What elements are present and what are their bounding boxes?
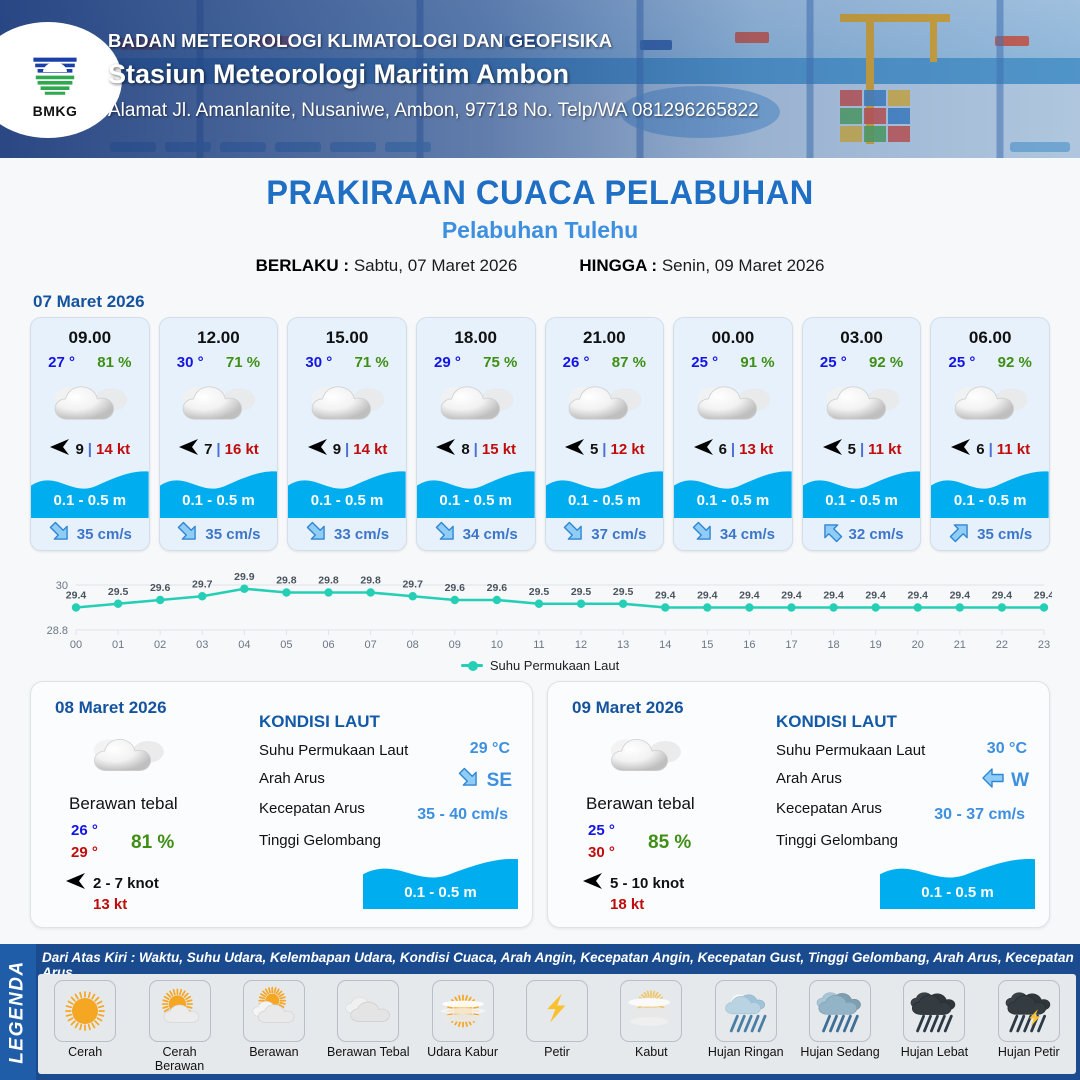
wind-direction-arrow bbox=[822, 438, 844, 461]
legend-icon-box bbox=[54, 980, 116, 1042]
wind-direction-icon bbox=[435, 438, 457, 456]
card-current-speed: 35 cm/s bbox=[977, 526, 1032, 543]
legend-item: Hujan Ringan bbox=[703, 980, 789, 1059]
legend-icon-box bbox=[337, 980, 399, 1042]
card-temp-humidity: 27 ° 81 % bbox=[31, 354, 149, 371]
card-weather-icon bbox=[288, 375, 406, 431]
card-time: 18.00 bbox=[417, 318, 535, 348]
daily-current-direction: SE bbox=[457, 766, 512, 795]
svg-text:23: 23 bbox=[1038, 639, 1050, 651]
svg-text:22: 22 bbox=[996, 639, 1008, 651]
current-direction-icon bbox=[452, 761, 486, 795]
card-weather-icon bbox=[803, 375, 921, 431]
agency-name: BADAN METEOROLOGI KLIMATOLOGI DAN GEOFIS… bbox=[108, 30, 759, 52]
card-humidity: 81 % bbox=[97, 354, 131, 371]
wave-graphic bbox=[288, 464, 406, 518]
current-direction-icon bbox=[429, 515, 463, 549]
card-wave-height: 0.1 - 0.5 m bbox=[674, 492, 792, 509]
card-current-row: 33 cm/s bbox=[288, 518, 406, 550]
svg-text:02: 02 bbox=[154, 639, 166, 651]
legend-item-label: Cerah bbox=[42, 1045, 128, 1059]
card-wind-degree: 9 bbox=[333, 441, 341, 458]
daily-humidity: 81 % bbox=[131, 832, 174, 854]
legend-item-label: Kabut bbox=[608, 1045, 694, 1059]
wind-direction-icon bbox=[178, 438, 200, 456]
card-current-row: 32 cm/s bbox=[803, 518, 921, 550]
label-current-direction: Arah Arus bbox=[776, 770, 842, 787]
hourly-card[interactable]: 09.00 27 ° 81 % 9 | 14 kt 0.1 - 0.5 m bbox=[30, 317, 150, 551]
hourly-forecast-list: 09.00 27 ° 81 % 9 | 14 kt 0.1 - 0.5 m bbox=[0, 317, 1080, 551]
legend-item-label: Hujan Lebat bbox=[891, 1045, 977, 1059]
daily-wave-height: 0.1 - 0.5 m bbox=[880, 884, 1035, 901]
wind-direction-arrow bbox=[693, 438, 715, 461]
label-sst: Suhu Permukaan Laut bbox=[776, 742, 925, 759]
legend-item-label: Hujan Petir bbox=[986, 1045, 1072, 1059]
svg-text:29.6: 29.6 bbox=[487, 582, 508, 594]
cloud-icon bbox=[563, 377, 645, 429]
card-wave-height: 0.1 - 0.5 m bbox=[417, 492, 535, 509]
svg-text:29.5: 29.5 bbox=[571, 586, 592, 598]
svg-text:29.7: 29.7 bbox=[192, 578, 213, 590]
fog-icon bbox=[625, 985, 677, 1037]
moderate-rain-icon bbox=[814, 985, 866, 1037]
svg-text:29.4: 29.4 bbox=[739, 590, 760, 602]
wind-direction-arrow bbox=[49, 438, 71, 461]
svg-text:29.6: 29.6 bbox=[445, 582, 466, 594]
svg-text:00: 00 bbox=[70, 639, 82, 651]
daily-wave-area: 0.1 - 0.5 m bbox=[363, 851, 518, 909]
card-wind-row: 9 | 14 kt bbox=[288, 436, 406, 462]
card-separator: | bbox=[345, 441, 349, 458]
wind-direction-icon bbox=[49, 438, 71, 456]
legend-item: Berawan bbox=[231, 980, 317, 1059]
daily-temp-max: 30 ° bbox=[588, 844, 615, 861]
header-text-block: BADAN METEOROLOGI KLIMATOLOGI DAN GEOFIS… bbox=[108, 30, 759, 122]
sea-condition-title: KONDISI LAUT bbox=[259, 712, 380, 732]
card-humidity: 87 % bbox=[612, 354, 646, 371]
card-temp-humidity: 25 ° 92 % bbox=[803, 354, 921, 371]
card-time: 21.00 bbox=[546, 318, 664, 348]
legend-icon-box bbox=[243, 980, 305, 1042]
svg-text:06: 06 bbox=[322, 639, 334, 651]
card-wind-degree: 7 bbox=[204, 441, 212, 458]
svg-text:18: 18 bbox=[827, 639, 839, 651]
hourly-card[interactable]: 00.00 25 ° 91 % 6 | 13 kt 0.1 - 0.5 m bbox=[673, 317, 793, 551]
card-wave-area: 0.1 - 0.5 m bbox=[160, 464, 278, 518]
wind-direction-icon bbox=[950, 438, 972, 456]
station-address: Alamat Jl. Amanlanite, Nusaniwe, Ambon, … bbox=[108, 100, 759, 122]
legend-section: LEGENDA Dari Atas Kiri : Waktu, Suhu Uda… bbox=[0, 944, 1080, 1080]
card-temp-humidity: 25 ° 92 % bbox=[931, 354, 1049, 371]
legend-item: Udara Kabur bbox=[420, 980, 506, 1059]
wind-direction-icon bbox=[822, 438, 844, 456]
card-current-row: 34 cm/s bbox=[417, 518, 535, 550]
svg-text:16: 16 bbox=[743, 639, 755, 651]
legend-item-label: Udara Kabur bbox=[420, 1045, 506, 1059]
wave-graphic bbox=[931, 464, 1049, 518]
svg-text:29.4: 29.4 bbox=[865, 590, 886, 602]
daily-date: 08 Maret 2026 bbox=[55, 698, 167, 718]
card-gust: 11 kt bbox=[868, 441, 901, 458]
daily-current-dir-text: W bbox=[1011, 770, 1029, 792]
daily-wind-speed: 5 - 10 knot bbox=[610, 875, 684, 892]
current-direction-icon bbox=[686, 515, 720, 549]
card-humidity: 71 % bbox=[226, 354, 260, 371]
card-wind-row: 5 | 11 kt bbox=[803, 436, 921, 462]
daily-weather-icon bbox=[606, 730, 684, 785]
legend-item: Kabut bbox=[608, 980, 694, 1059]
svg-text:10: 10 bbox=[491, 639, 503, 651]
label-current-direction: Arah Arus bbox=[259, 770, 325, 787]
card-wave-height: 0.1 - 0.5 m bbox=[803, 492, 921, 509]
card-time: 06.00 bbox=[931, 318, 1049, 348]
cloud-icon bbox=[49, 377, 131, 429]
current-arrow-wrap bbox=[434, 520, 458, 549]
chart-legend: Suhu Permukaan Laut bbox=[0, 658, 1080, 673]
card-current-speed: 35 cm/s bbox=[205, 526, 260, 543]
card-gust: 12 kt bbox=[610, 441, 644, 458]
card-weather-icon bbox=[674, 375, 792, 431]
card-temp-humidity: 30 ° 71 % bbox=[160, 354, 278, 371]
legend-item: Hujan Sedang bbox=[797, 980, 883, 1059]
daily-temp-min: 26 ° bbox=[71, 822, 98, 839]
svg-text:29.4: 29.4 bbox=[1034, 590, 1052, 602]
card-weather-icon bbox=[931, 375, 1049, 431]
cloud-sun-icon bbox=[248, 985, 300, 1037]
card-wave-area: 0.1 - 0.5 m bbox=[288, 464, 406, 518]
daily-forecast-panels: 08 Maret 2026 Berawan tebal 26 ° 29 ° 81… bbox=[0, 681, 1080, 928]
legend-icon-box bbox=[620, 980, 682, 1042]
sst-chart-svg: 3028.829.40029.50129.60229.70329.90429.8… bbox=[28, 561, 1052, 656]
daily-temp-min: 25 ° bbox=[588, 822, 615, 839]
daily-condition: Berawan tebal bbox=[69, 794, 178, 814]
svg-text:29.4: 29.4 bbox=[950, 590, 971, 602]
wind-direction-icon bbox=[65, 872, 87, 890]
cloud-icon bbox=[435, 377, 517, 429]
wind-direction-arrow bbox=[582, 872, 604, 895]
daily-wave-area: 0.1 - 0.5 m bbox=[880, 851, 1035, 909]
svg-text:29.4: 29.4 bbox=[823, 590, 844, 602]
daily-current-speed: 35 - 40 cm/s bbox=[417, 806, 508, 824]
card-current-speed: 32 cm/s bbox=[849, 526, 904, 543]
current-arrow-wrap bbox=[948, 520, 972, 549]
card-wind-row: 8 | 15 kt bbox=[417, 436, 535, 462]
wave-graphic bbox=[546, 464, 664, 518]
svg-text:09: 09 bbox=[449, 639, 461, 651]
card-gust: 14 kt bbox=[353, 441, 387, 458]
card-weather-icon bbox=[31, 375, 149, 431]
svg-text:20: 20 bbox=[912, 639, 924, 651]
svg-text:29.5: 29.5 bbox=[613, 586, 634, 598]
svg-text:29.4: 29.4 bbox=[908, 590, 929, 602]
wave-graphic bbox=[417, 464, 535, 518]
svg-text:04: 04 bbox=[238, 639, 250, 651]
card-time: 09.00 bbox=[31, 318, 149, 348]
wind-direction-icon bbox=[582, 872, 604, 890]
wind-direction-arrow bbox=[65, 872, 87, 895]
current-direction-icon bbox=[815, 515, 849, 549]
wind-direction-arrow bbox=[564, 438, 586, 461]
card-wind-degree: 9 bbox=[75, 441, 83, 458]
daily-current-dir-text: SE bbox=[487, 770, 512, 792]
current-direction-icon bbox=[943, 515, 977, 549]
page-header: BMKG BADAN METEOROLOGI KLIMATOLOGI DAN G… bbox=[0, 0, 1080, 158]
current-arrow-wrap bbox=[820, 520, 844, 549]
wave-graphic bbox=[674, 464, 792, 518]
card-current-speed: 33 cm/s bbox=[334, 526, 389, 543]
lightning-icon bbox=[531, 985, 583, 1037]
card-temperature: 30 ° bbox=[177, 354, 204, 371]
haze-icon bbox=[437, 985, 489, 1037]
hingga-group: HINGGA : Senin, 09 Maret 2026 bbox=[579, 256, 824, 276]
daily-panel[interactable]: 08 Maret 2026 Berawan tebal 26 ° 29 ° 81… bbox=[30, 681, 533, 928]
card-wave-height: 0.1 - 0.5 m bbox=[31, 492, 149, 509]
card-wind-row: 6 | 13 kt bbox=[674, 436, 792, 462]
card-wind-row: 6 | 11 kt bbox=[931, 436, 1049, 462]
card-wind-degree: 8 bbox=[461, 441, 469, 458]
wind-direction-icon bbox=[307, 438, 329, 456]
daily-sst: 30 °C bbox=[987, 740, 1027, 758]
card-weather-icon bbox=[417, 375, 535, 431]
daily-current-direction: W bbox=[981, 766, 1029, 795]
legend-icon-box bbox=[809, 980, 871, 1042]
card-time: 15.00 bbox=[288, 318, 406, 348]
svg-text:08: 08 bbox=[407, 639, 419, 651]
current-direction-icon bbox=[171, 515, 205, 549]
wind-direction-icon bbox=[693, 438, 715, 456]
current-arrow-wrap bbox=[562, 520, 586, 549]
card-temp-humidity: 25 ° 91 % bbox=[674, 354, 792, 371]
hourly-date-label: 07 Maret 2026 bbox=[33, 292, 1080, 312]
current-direction-icon bbox=[981, 766, 1005, 790]
daily-panel[interactable]: 09 Maret 2026 Berawan tebal 25 ° 30 ° 85… bbox=[547, 681, 1050, 928]
svg-text:29.4: 29.4 bbox=[992, 590, 1013, 602]
cloud-icon bbox=[89, 730, 167, 780]
card-wave-area: 0.1 - 0.5 m bbox=[674, 464, 792, 518]
svg-text:29.9: 29.9 bbox=[234, 571, 255, 583]
card-temperature: 25 ° bbox=[691, 354, 718, 371]
hourly-card[interactable]: 21.00 26 ° 87 % 5 | 12 kt 0.1 - 0.5 m bbox=[545, 317, 665, 551]
card-wave-height: 0.1 - 0.5 m bbox=[546, 492, 664, 509]
legend-item: Berawan Tebal bbox=[325, 980, 411, 1059]
wind-direction-arrow bbox=[307, 438, 329, 461]
wave-graphic bbox=[803, 464, 921, 518]
card-separator: | bbox=[88, 441, 92, 458]
svg-text:19: 19 bbox=[870, 639, 882, 651]
hourly-card[interactable]: 03.00 25 ° 92 % 5 | 11 kt 0.1 - 0.5 m bbox=[802, 317, 922, 551]
svg-text:07: 07 bbox=[364, 639, 376, 651]
daily-wind-row: 2 - 7 knot bbox=[65, 872, 159, 895]
card-wave-area: 0.1 - 0.5 m bbox=[931, 464, 1049, 518]
card-wave-height: 0.1 - 0.5 m bbox=[931, 492, 1049, 509]
svg-text:29.8: 29.8 bbox=[360, 575, 381, 587]
validity-row: BERLAKU : Sabtu, 07 Maret 2026 HINGGA : … bbox=[0, 256, 1080, 276]
wave-graphic bbox=[31, 464, 149, 518]
svg-text:29.5: 29.5 bbox=[529, 586, 550, 598]
daily-wave-height: 0.1 - 0.5 m bbox=[363, 884, 518, 901]
legend-icon-box bbox=[998, 980, 1060, 1042]
card-temperature: 25 ° bbox=[949, 354, 976, 371]
label-current-speed: Kecepatan Arus bbox=[776, 800, 882, 817]
card-wind-degree: 6 bbox=[976, 441, 984, 458]
card-gust: 16 kt bbox=[225, 441, 259, 458]
thunderstorm-icon bbox=[1003, 985, 1055, 1037]
card-humidity: 71 % bbox=[355, 354, 389, 371]
daily-gust: 13 kt bbox=[93, 896, 127, 913]
card-temperature: 29 ° bbox=[434, 354, 461, 371]
wind-direction-icon bbox=[564, 438, 586, 456]
svg-text:01: 01 bbox=[112, 639, 124, 651]
card-humidity: 92 % bbox=[998, 354, 1032, 371]
hourly-card[interactable]: 12.00 30 ° 71 % 7 | 16 kt 0.1 - 0.5 m bbox=[159, 317, 279, 551]
card-temp-humidity: 30 ° 71 % bbox=[288, 354, 406, 371]
card-gust: 14 kt bbox=[96, 441, 130, 458]
card-separator: | bbox=[989, 441, 993, 458]
legend-item-label: Hujan Ringan bbox=[703, 1045, 789, 1059]
legend-item: Hujan Petir bbox=[986, 980, 1072, 1059]
daily-gust: 18 kt bbox=[610, 896, 644, 913]
card-wind-row: 9 | 14 kt bbox=[31, 436, 149, 462]
legend-icon-box bbox=[149, 980, 211, 1042]
card-weather-icon bbox=[546, 375, 664, 431]
svg-text:29.8: 29.8 bbox=[318, 575, 339, 587]
berlaku-label: BERLAKU : bbox=[256, 256, 350, 275]
card-humidity: 75 % bbox=[483, 354, 517, 371]
cloud-icon bbox=[342, 985, 394, 1037]
current-arrow-wrap bbox=[305, 520, 329, 549]
card-time: 03.00 bbox=[803, 318, 921, 348]
cloud-icon bbox=[606, 730, 684, 780]
sun-icon bbox=[59, 985, 111, 1037]
svg-text:05: 05 bbox=[280, 639, 292, 651]
bmkg-logo-text: BMKG bbox=[33, 103, 78, 119]
card-current-row: 35 cm/s bbox=[160, 518, 278, 550]
legend-items: Cerah Cerah Berawan Berawan Berawan Teba… bbox=[38, 974, 1076, 1074]
cloud-icon bbox=[177, 377, 259, 429]
heavy-rain-icon bbox=[908, 985, 960, 1037]
current-direction-icon bbox=[557, 515, 591, 549]
current-arrow-wrap bbox=[48, 520, 72, 549]
current-arrow-wrap bbox=[457, 766, 481, 795]
current-arrow-wrap bbox=[176, 520, 200, 549]
svg-text:11: 11 bbox=[533, 639, 544, 651]
label-wave-height: Tinggi Gelombang bbox=[259, 832, 381, 849]
card-wind-degree: 5 bbox=[848, 441, 856, 458]
label-sst: Suhu Permukaan Laut bbox=[259, 742, 408, 759]
label-wave-height: Tinggi Gelombang bbox=[776, 832, 898, 849]
card-current-row: 35 cm/s bbox=[31, 518, 149, 550]
svg-text:29.8: 29.8 bbox=[276, 575, 297, 587]
legend-item: Petir bbox=[514, 980, 600, 1059]
hourly-card[interactable]: 06.00 25 ° 92 % 6 | 11 kt 0.1 - 0.5 m bbox=[930, 317, 1050, 551]
legend-icon-box bbox=[903, 980, 965, 1042]
daily-current-speed: 30 - 37 cm/s bbox=[934, 806, 1025, 824]
card-temperature: 27 ° bbox=[48, 354, 75, 371]
card-wind-row: 7 | 16 kt bbox=[160, 436, 278, 462]
card-current-speed: 34 cm/s bbox=[463, 526, 518, 543]
card-wave-height: 0.1 - 0.5 m bbox=[160, 492, 278, 509]
sun-cloud-icon bbox=[154, 985, 206, 1037]
berlaku-value: Sabtu, 07 Maret 2026 bbox=[354, 256, 518, 275]
legend-item-label: Berawan Tebal bbox=[325, 1045, 411, 1059]
card-time: 12.00 bbox=[160, 318, 278, 348]
daily-date: 09 Maret 2026 bbox=[572, 698, 684, 718]
card-separator: | bbox=[860, 441, 864, 458]
sea-condition-title: KONDISI LAUT bbox=[776, 712, 897, 732]
card-temperature: 26 ° bbox=[563, 354, 590, 371]
cloud-icon bbox=[821, 377, 903, 429]
svg-text:29.7: 29.7 bbox=[402, 578, 423, 590]
card-gust: 15 kt bbox=[482, 441, 516, 458]
chart-legend-label: Suhu Permukaan Laut bbox=[490, 658, 619, 673]
card-current-row: 34 cm/s bbox=[674, 518, 792, 550]
hingga-label: HINGGA : bbox=[579, 256, 657, 275]
card-temp-humidity: 29 ° 75 % bbox=[417, 354, 535, 371]
daily-wind-row: 5 - 10 knot bbox=[582, 872, 684, 895]
legend-item-label: Petir bbox=[514, 1045, 600, 1059]
legend-item-label: Cerah Berawan bbox=[137, 1045, 223, 1073]
legend-item: Hujan Lebat bbox=[891, 980, 977, 1059]
svg-text:13: 13 bbox=[617, 639, 629, 651]
card-wind-degree: 5 bbox=[590, 441, 598, 458]
svg-text:17: 17 bbox=[785, 639, 797, 651]
berlaku-group: BERLAKU : Sabtu, 07 Maret 2026 bbox=[256, 256, 518, 276]
light-rain-icon bbox=[720, 985, 772, 1037]
title-block: PRAKIRAAN CUACA PELABUHAN Pelabuhan Tule… bbox=[0, 174, 1080, 276]
label-current-speed: Kecepatan Arus bbox=[259, 800, 365, 817]
legend-item: Cerah bbox=[42, 980, 128, 1059]
card-wave-height: 0.1 - 0.5 m bbox=[288, 492, 406, 509]
card-current-row: 35 cm/s bbox=[931, 518, 1049, 550]
legend-item-label: Berawan bbox=[231, 1045, 317, 1059]
svg-text:29.4: 29.4 bbox=[697, 590, 718, 602]
bmkg-logo-icon bbox=[25, 42, 85, 102]
station-name: Stasiun Meteorologi Maritim Ambon bbox=[108, 59, 759, 90]
svg-text:21: 21 bbox=[954, 639, 966, 651]
svg-text:29.5: 29.5 bbox=[108, 586, 129, 598]
card-wind-degree: 6 bbox=[719, 441, 727, 458]
hingga-value: Senin, 09 Maret 2026 bbox=[662, 256, 825, 275]
page-title: PRAKIRAAN CUACA PELABUHAN bbox=[22, 174, 1059, 213]
legend-side-label: LEGENDA bbox=[0, 944, 36, 1080]
hourly-card[interactable]: 18.00 29 ° 75 % 8 | 15 kt 0.1 - 0.5 m bbox=[416, 317, 536, 551]
legend-icon-box bbox=[526, 980, 588, 1042]
card-separator: | bbox=[602, 441, 606, 458]
cloud-icon bbox=[949, 377, 1031, 429]
hourly-card[interactable]: 15.00 30 ° 71 % 9 | 14 kt 0.1 - 0.5 m bbox=[287, 317, 407, 551]
daily-temp-max: 29 ° bbox=[71, 844, 98, 861]
daily-weather-icon bbox=[89, 730, 167, 785]
legend-side-text: LEGENDA bbox=[7, 960, 29, 1063]
card-wave-area: 0.1 - 0.5 m bbox=[803, 464, 921, 518]
cloud-icon bbox=[306, 377, 388, 429]
card-current-speed: 34 cm/s bbox=[720, 526, 775, 543]
card-weather-icon bbox=[160, 375, 278, 431]
legend-icon-box bbox=[432, 980, 494, 1042]
cloud-icon bbox=[692, 377, 774, 429]
card-gust: 13 kt bbox=[739, 441, 773, 458]
wind-direction-arrow bbox=[435, 438, 457, 461]
svg-text:14: 14 bbox=[659, 639, 671, 651]
svg-text:15: 15 bbox=[701, 639, 713, 651]
chart-legend-marker bbox=[461, 664, 483, 667]
card-current-speed: 35 cm/s bbox=[77, 526, 132, 543]
legend-icon-box bbox=[715, 980, 777, 1042]
card-wave-area: 0.1 - 0.5 m bbox=[417, 464, 535, 518]
card-temperature: 25 ° bbox=[820, 354, 847, 371]
card-current-row: 37 cm/s bbox=[546, 518, 664, 550]
current-arrow-wrap bbox=[691, 520, 715, 549]
